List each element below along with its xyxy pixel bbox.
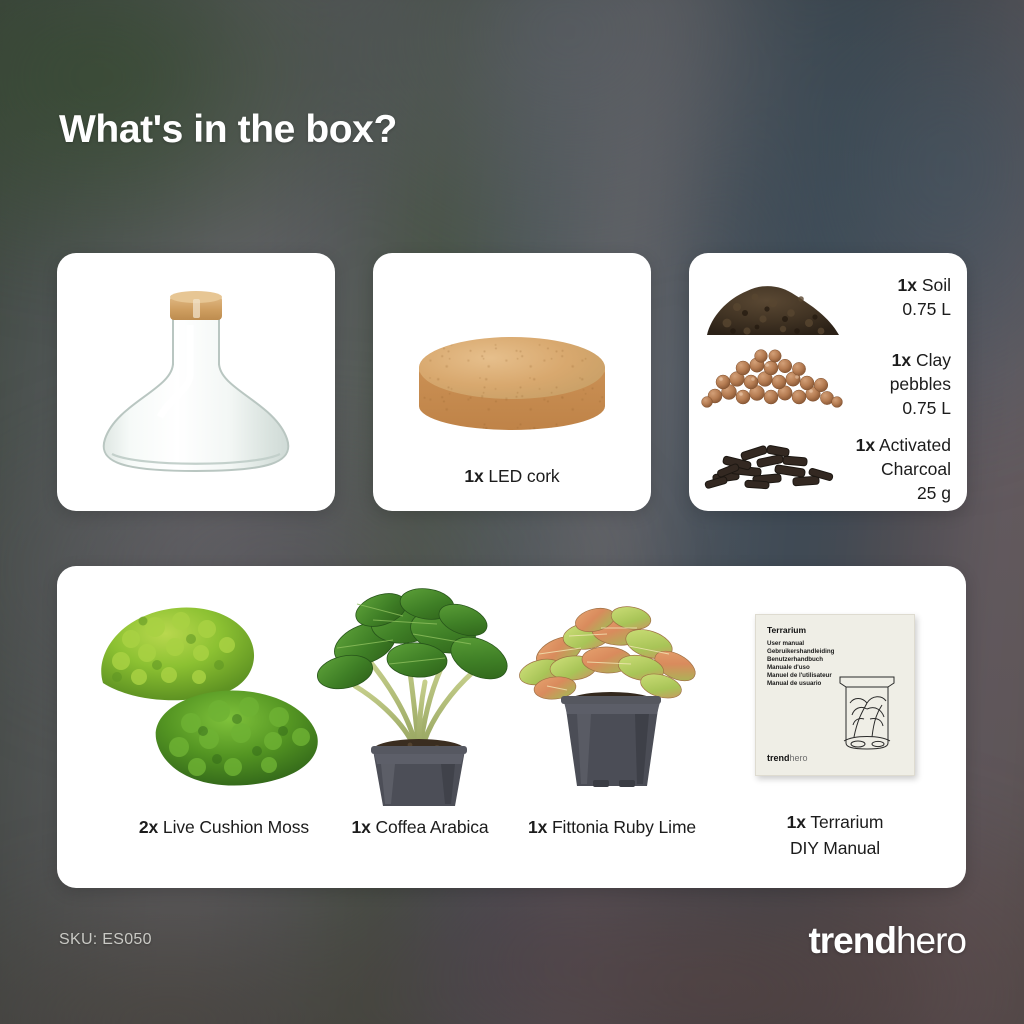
coffea-arabica-qty: 1x xyxy=(351,817,370,837)
clay-pebbles-amount: 0.75 L xyxy=(811,396,951,420)
fittonia-ruby-lime-qty: 1x xyxy=(528,817,547,837)
terrarium-manual-image: Terrarium User manual Gebruikershandleid… xyxy=(755,614,915,776)
coffea-arabica-caption: 1x Coffea Arabica xyxy=(325,817,515,838)
product-card-bottle: 1x bottle xyxy=(57,253,335,511)
brand-logo: trendhero xyxy=(808,920,966,962)
led-cork-qty: 1x xyxy=(464,466,483,486)
clay-pebbles-name-line2: pebbles xyxy=(811,372,951,396)
manual-brand-logo: trendhero xyxy=(767,753,808,763)
page-title: What's in the box? xyxy=(59,108,397,152)
soil-text: 1x Soil 0.75 L xyxy=(811,273,951,321)
activated-charcoal-name: Activated xyxy=(875,435,951,455)
coffea-arabica-name: Coffea Arabica xyxy=(371,817,489,837)
sku-label: SKU: ES050 xyxy=(59,931,152,949)
fittonia-ruby-lime-name: Fittonia Ruby Lime xyxy=(547,817,696,837)
product-card-led-cork: 1x LED cork xyxy=(373,253,651,511)
cushion-moss-name: Live Cushion Moss xyxy=(158,817,309,837)
glass-bottle-image xyxy=(57,271,335,481)
manual-jar-illustration xyxy=(824,669,910,753)
manual-brand-bold: trend xyxy=(767,753,790,763)
cork-top-surface xyxy=(419,337,605,399)
clay-pebbles-name: Clay xyxy=(911,350,951,370)
cork-top-grain-texture xyxy=(419,337,605,399)
soil-name: Soil xyxy=(917,275,951,295)
fittonia-ruby-lime-caption: 1x Fittonia Ruby Lime xyxy=(507,817,717,838)
clay-pebbles-qty: 1x xyxy=(892,350,911,370)
led-cork-image xyxy=(419,338,605,430)
cushion-moss-qty: 2x xyxy=(139,817,158,837)
activated-charcoal-name-line2: Charcoal xyxy=(811,457,951,481)
manual-brand-light: hero xyxy=(790,753,808,763)
product-card-plants-and-manual: 2x Live Cushion Moss xyxy=(57,566,966,888)
terrarium-manual-qty: 1x xyxy=(787,812,806,832)
brand-logo-bold: trend xyxy=(808,920,896,961)
terrarium-manual-caption: 1x Terrarium DIY Manual xyxy=(725,809,945,861)
led-cork-caption: 1x LED cork xyxy=(373,466,651,487)
activated-charcoal-amount: 25 g xyxy=(811,481,951,505)
clay-pebbles-text: 1x Clay pebbles 0.75 L xyxy=(811,348,951,420)
soil-amount: 0.75 L xyxy=(811,297,951,321)
brand-logo-light: hero xyxy=(896,920,966,961)
coffea-arabica-plant-image xyxy=(315,574,525,812)
terrarium-manual-name: Terrarium xyxy=(806,812,883,832)
activated-charcoal-text: 1x Activated Charcoal 25 g xyxy=(811,433,951,505)
terrarium-manual-name-line2: DIY Manual xyxy=(725,835,945,861)
led-cork-name: LED cork xyxy=(484,466,560,486)
manual-cover-title: Terrarium xyxy=(767,625,806,635)
activated-charcoal-qty: 1x xyxy=(856,435,875,455)
product-card-substrates: 1x Soil 0.75 L xyxy=(689,253,967,511)
cushion-moss-image xyxy=(87,591,337,811)
soil-qty: 1x xyxy=(897,275,916,295)
fittonia-ruby-lime-plant-image xyxy=(507,594,717,812)
